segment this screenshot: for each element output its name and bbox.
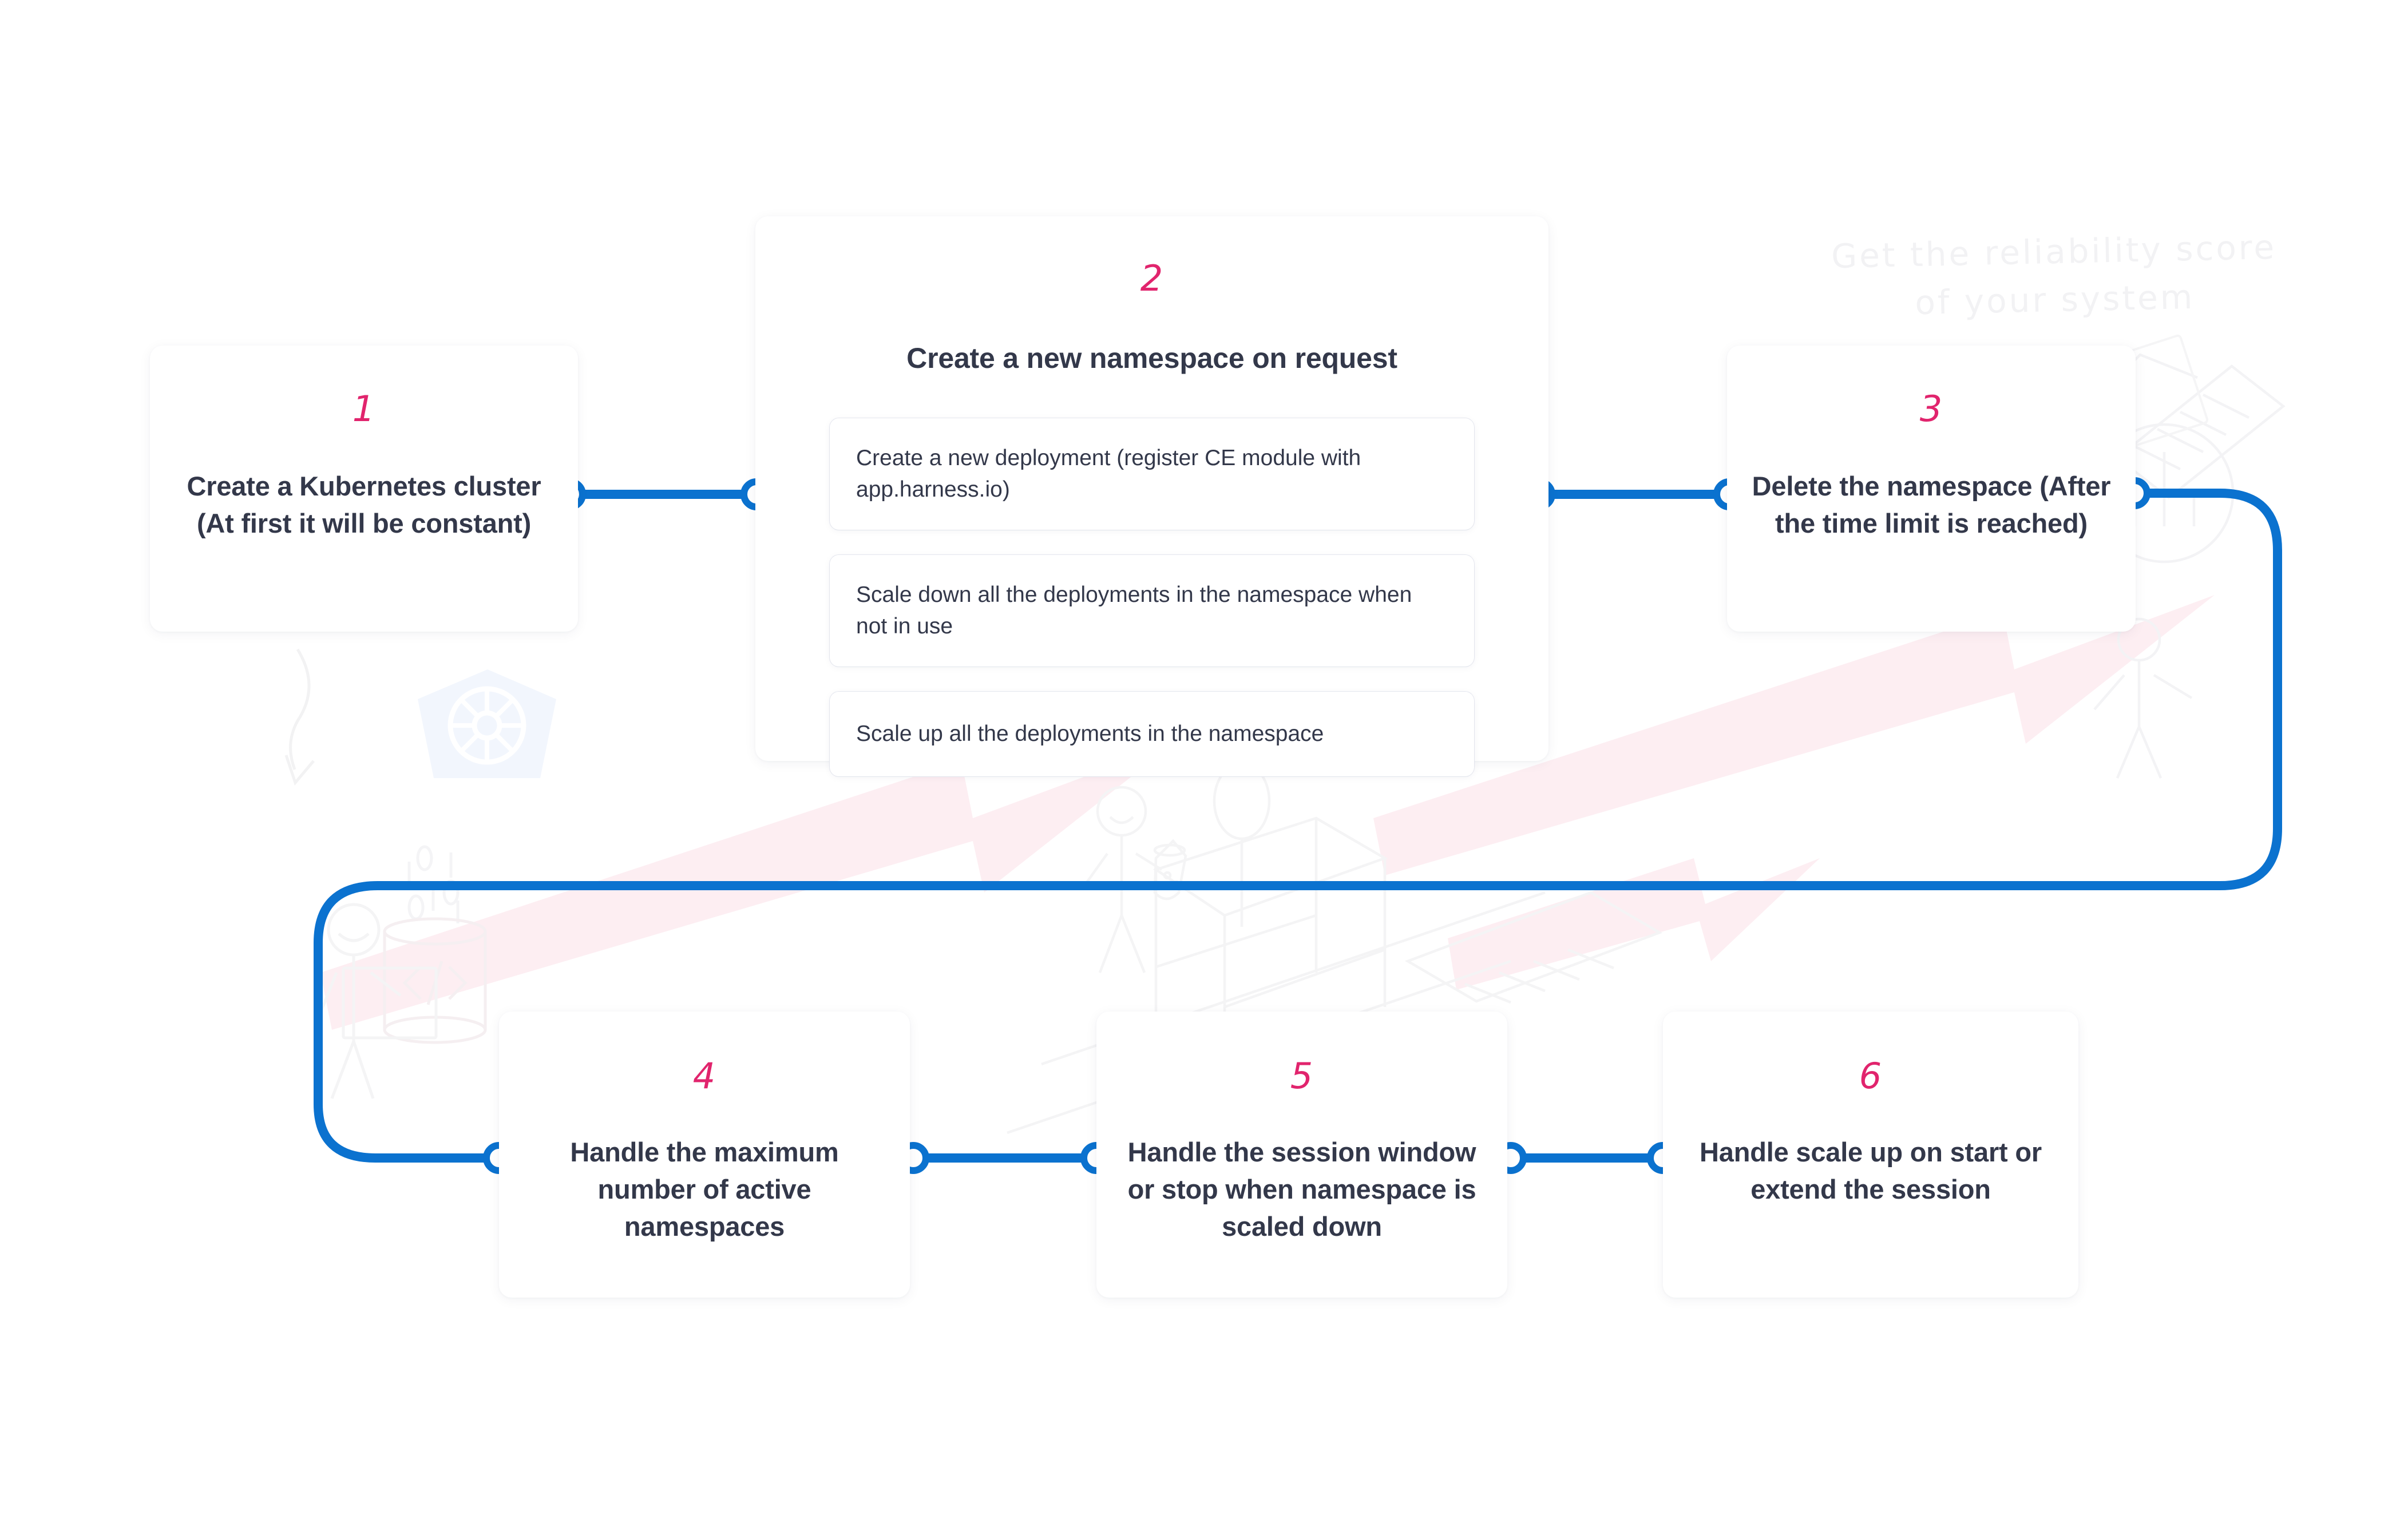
subitem-card[interactable]: Create a new deployment (register CE mod… bbox=[830, 418, 1474, 530]
step-2-subitem-list: Create a new deployment (register CE mod… bbox=[830, 418, 1474, 776]
step-title-2: Create a new namespace on request bbox=[906, 339, 1397, 378]
step-number-2: 2 bbox=[1140, 261, 1163, 296]
step-card-6[interactable]: 6 Handle scale up on start or extend the… bbox=[1663, 1012, 2078, 1298]
step-title-5: Handle the session window or stop when n… bbox=[1122, 1134, 1482, 1246]
step-number-5: 5 bbox=[1290, 1058, 1313, 1094]
subitem-card[interactable]: Scale up all the deployments in the name… bbox=[830, 692, 1474, 776]
step-number-6: 6 bbox=[1859, 1058, 1882, 1094]
stick-figure-with-board bbox=[320, 905, 436, 1098]
flowchart-canvas: Get the reliability score of your system bbox=[0, 0, 2408, 1515]
code-cylinder-icon bbox=[385, 919, 485, 1042]
step-title-6: Handle scale up on start or extend the s… bbox=[1689, 1134, 2052, 1208]
step-card-4[interactable]: 4 Handle the maximum number of active na… bbox=[499, 1012, 910, 1298]
curved-arrow-sketch bbox=[286, 649, 314, 783]
watermark-handwriting-text: Get the reliability score of your system bbox=[1807, 223, 2301, 329]
step-card-1[interactable]: 1 Create a Kubernetes cluster (At first … bbox=[150, 346, 578, 632]
kubernetes-helm-icon bbox=[418, 669, 556, 778]
binary-digits bbox=[409, 847, 458, 923]
step-card-2[interactable]: 2 Create a new namespace on request Crea… bbox=[755, 216, 1548, 761]
step-number-3: 3 bbox=[1920, 391, 1943, 427]
step-card-3[interactable]: 3 Delete the namespace (After the time l… bbox=[1727, 346, 2136, 632]
step-title-1: Create a Kubernetes cluster (At first it… bbox=[176, 468, 552, 542]
step-number-4: 4 bbox=[693, 1058, 716, 1094]
step-card-5[interactable]: 5 Handle the session window or stop when… bbox=[1096, 1012, 1507, 1298]
subitem-card[interactable]: Scale down all the deployments in the na… bbox=[830, 555, 1474, 667]
step-title-4: Handle the maximum number of active name… bbox=[533, 1134, 876, 1246]
step-number-1: 1 bbox=[353, 391, 375, 427]
step-title-3: Delete the namespace (After the time lim… bbox=[1750, 468, 2113, 542]
